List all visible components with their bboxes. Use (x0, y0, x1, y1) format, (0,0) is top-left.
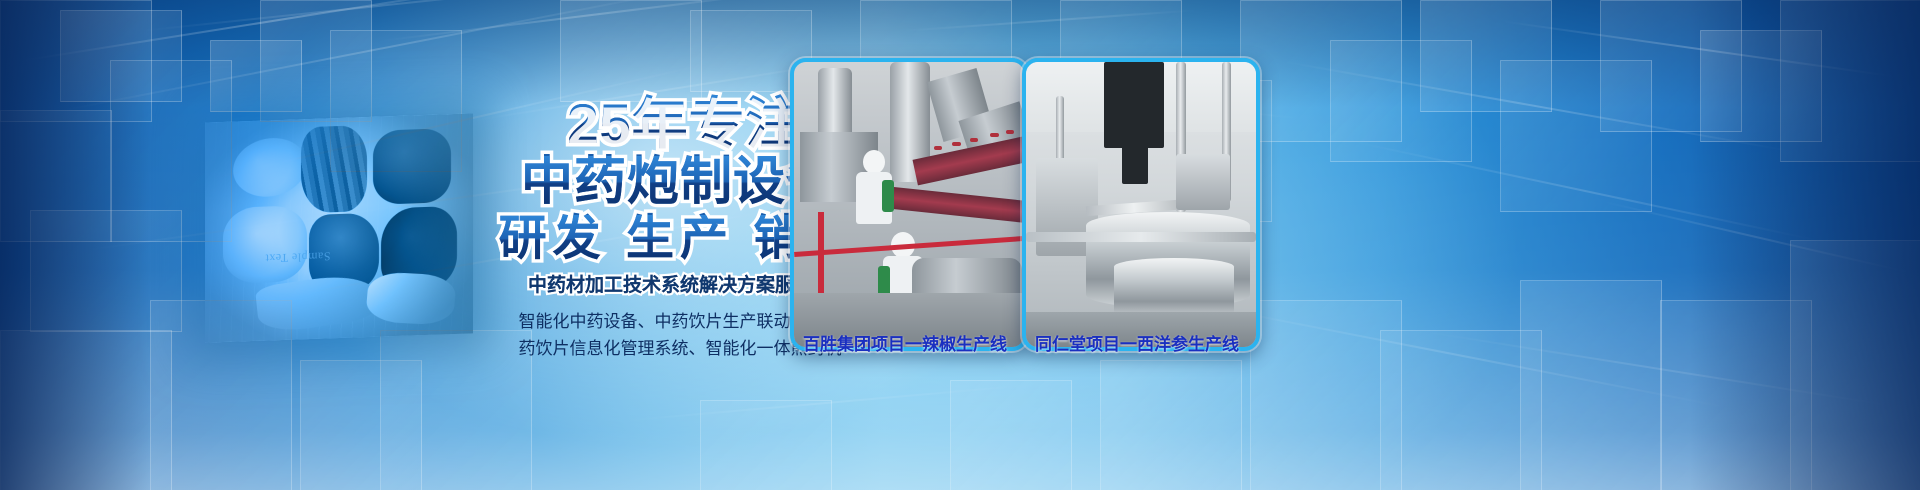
photo-2-content (1026, 62, 1256, 347)
light-streak (1500, 20, 1896, 78)
photo-ginseng-production-line[interactable] (1022, 58, 1260, 351)
worker-arm (882, 180, 894, 212)
light-streak (1180, 300, 1730, 409)
worker-head (863, 150, 885, 174)
rail (1026, 232, 1256, 242)
control-panel (1176, 154, 1230, 210)
light-streak (620, 383, 1039, 422)
chili (990, 133, 999, 137)
chili (1006, 130, 1014, 134)
overhead-frame (1122, 142, 1148, 184)
caption-photo-1: 百胜集团项目一辣椒生产线 (790, 330, 1020, 355)
photo-1-content (794, 62, 1024, 347)
chili (952, 142, 961, 146)
light-streak (1600, 200, 1912, 274)
overhead-frame (1104, 62, 1164, 148)
collage-vignette (205, 113, 473, 342)
light-streak (1280, 60, 1792, 152)
photo-chili-production-line[interactable] (790, 58, 1028, 351)
worker-figure (854, 150, 894, 242)
extraction-tank-lower (1114, 258, 1234, 320)
light-streak (1420, 330, 1894, 407)
caption-photo-2: 同仁堂项目一西洋参生产线 (1022, 330, 1252, 355)
light-streak (1350, 140, 1820, 242)
herb-collage-image: Sample Text (205, 113, 473, 342)
promo-banner: Sample Text 25年专注 25年专注 中药炮制设备 中药炮制设备 研发… (0, 0, 1920, 490)
chili (934, 146, 942, 150)
conveyor-belt (889, 187, 1028, 224)
sample-watermark: Sample Text (265, 248, 330, 265)
worker-arm (878, 266, 890, 296)
chili (970, 138, 978, 142)
light-streak (900, 9, 1199, 32)
